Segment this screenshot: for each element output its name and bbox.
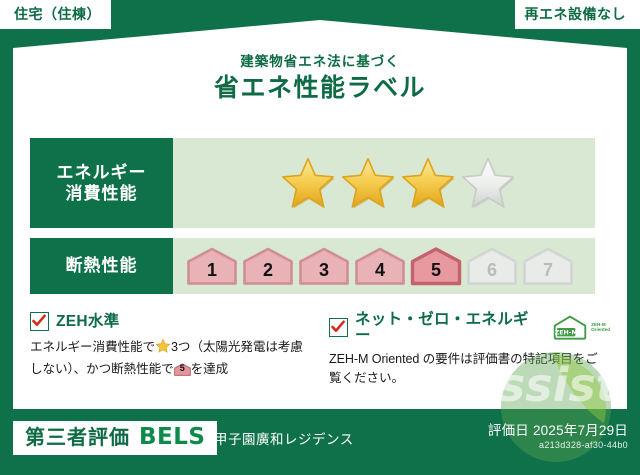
evaluation-info: 評価日 2025年7月29日 a213d328-af30-44b0 (488, 423, 628, 452)
note-nze-title: ネット・ゼロ・エネルギー (355, 312, 542, 343)
inline-star-icon (155, 338, 171, 360)
insulation-performance-label: 断熱性能 (30, 238, 173, 294)
bels-jp-text: 第三者評価 (25, 428, 130, 448)
energy-performance-row: エネルギー 消費性能 (30, 138, 595, 228)
insulation-grade-value: 1 (207, 261, 217, 286)
insulation-performance-row: 断熱性能 1234567 (30, 238, 595, 294)
insulation-grade-value: 7 (543, 261, 553, 286)
energy-label-line1: エネルギー (57, 162, 147, 183)
insulation-grade-value: 5 (431, 261, 441, 286)
note-zeh: ZEH水準 エネルギー消費性能で3つ（太陽光発電は考慮しない）、かつ断熱性能で5… (30, 312, 311, 388)
note-zeh-body-part1: エネルギー消費性能で (30, 340, 155, 354)
energy-performance-label: 住宅（住棟） 再エネ設備なし 建築物省エネ法に基づく 省エネ性能ラベル エネルギ… (0, 0, 640, 475)
insulation-grade-1: 1 (186, 246, 238, 286)
inline-house-grade-value: 5 (174, 362, 191, 377)
tag-renewable-energy: 再エネ設備なし (515, 0, 640, 29)
star-filled-icon (339, 155, 397, 211)
building-name: 上甲子園廣和レジデンス (200, 433, 354, 447)
energy-performance-label: エネルギー 消費性能 (30, 138, 173, 228)
label-title-main: 省エネ性能ラベル (0, 76, 640, 101)
star-filled-icon (399, 155, 457, 211)
evaluation-date: 評価日 2025年7月29日 (488, 423, 628, 440)
bels-en-text: BELS (139, 426, 205, 449)
note-nze-body: ZEH-M Oriented の要件は評価書の特記項目をご覧ください。 (329, 350, 610, 388)
checkbox-checked-icon (30, 312, 49, 331)
star-empty-icon (459, 155, 517, 211)
insulation-grade-value: 2 (263, 261, 273, 286)
zeh-m-logo: ZEH-M ZEH-M Oriented (552, 315, 610, 341)
insulation-grade-6: 6 (466, 246, 518, 286)
bels-badge: 第三者評価 BELS (13, 421, 217, 455)
insulation-grade-7: 7 (522, 246, 574, 286)
insulation-label-text: 断熱性能 (66, 255, 138, 276)
insulation-grade-value: 3 (319, 261, 329, 286)
evaluation-id: a213d328-af30-44b0 (488, 440, 628, 452)
insulation-grade-value: 4 (375, 261, 385, 286)
note-zeh-body-part3: を達成 (191, 362, 228, 376)
note-zeh-title: ZEH水準 (56, 314, 120, 330)
note-zeh-body: エネルギー消費性能で3つ（太陽光発電は考慮しない）、かつ断熱性能で5を達成 (30, 338, 311, 379)
tag-building-type: 住宅（住棟） (0, 0, 111, 29)
note-nze-header: ネット・ゼロ・エネルギー ZEH-M ZEH-M Oriented (329, 312, 610, 343)
label-title: 建築物省エネ法に基づく 省エネ性能ラベル (0, 55, 640, 101)
insulation-grade-value: 6 (487, 261, 497, 286)
insulation-grade-2: 2 (242, 246, 294, 286)
zeh-m-logo-sub2: Oriented (591, 328, 610, 333)
insulation-grade-3: 3 (298, 246, 350, 286)
svg-text:ZEH-M: ZEH-M (555, 329, 578, 336)
insulation-grade-4: 4 (354, 246, 406, 286)
inline-house-grade-icon: 5 (174, 362, 191, 377)
star-filled-icon (279, 155, 337, 211)
note-net-zero-energy: ネット・ゼロ・エネルギー ZEH-M ZEH-M Oriented ZEH-M … (329, 312, 610, 388)
label-footer: 第三者評価 BELS 上甲子園廣和レジデンス 評価日 2025年7月29日 a2… (0, 409, 640, 475)
star-rating (173, 138, 595, 228)
energy-label-line2: 消費性能 (66, 183, 138, 204)
note-zeh-header: ZEH水準 (30, 312, 311, 331)
checkbox-checked-icon (329, 318, 348, 337)
insulation-grade-5: 5 (410, 246, 462, 286)
notes-section: ZEH水準 エネルギー消費性能で3つ（太陽光発電は考慮しない）、かつ断熱性能で5… (30, 312, 610, 388)
insulation-grade-scale: 1234567 (173, 238, 595, 294)
label-title-sub: 建築物省エネ法に基づく (0, 55, 640, 69)
